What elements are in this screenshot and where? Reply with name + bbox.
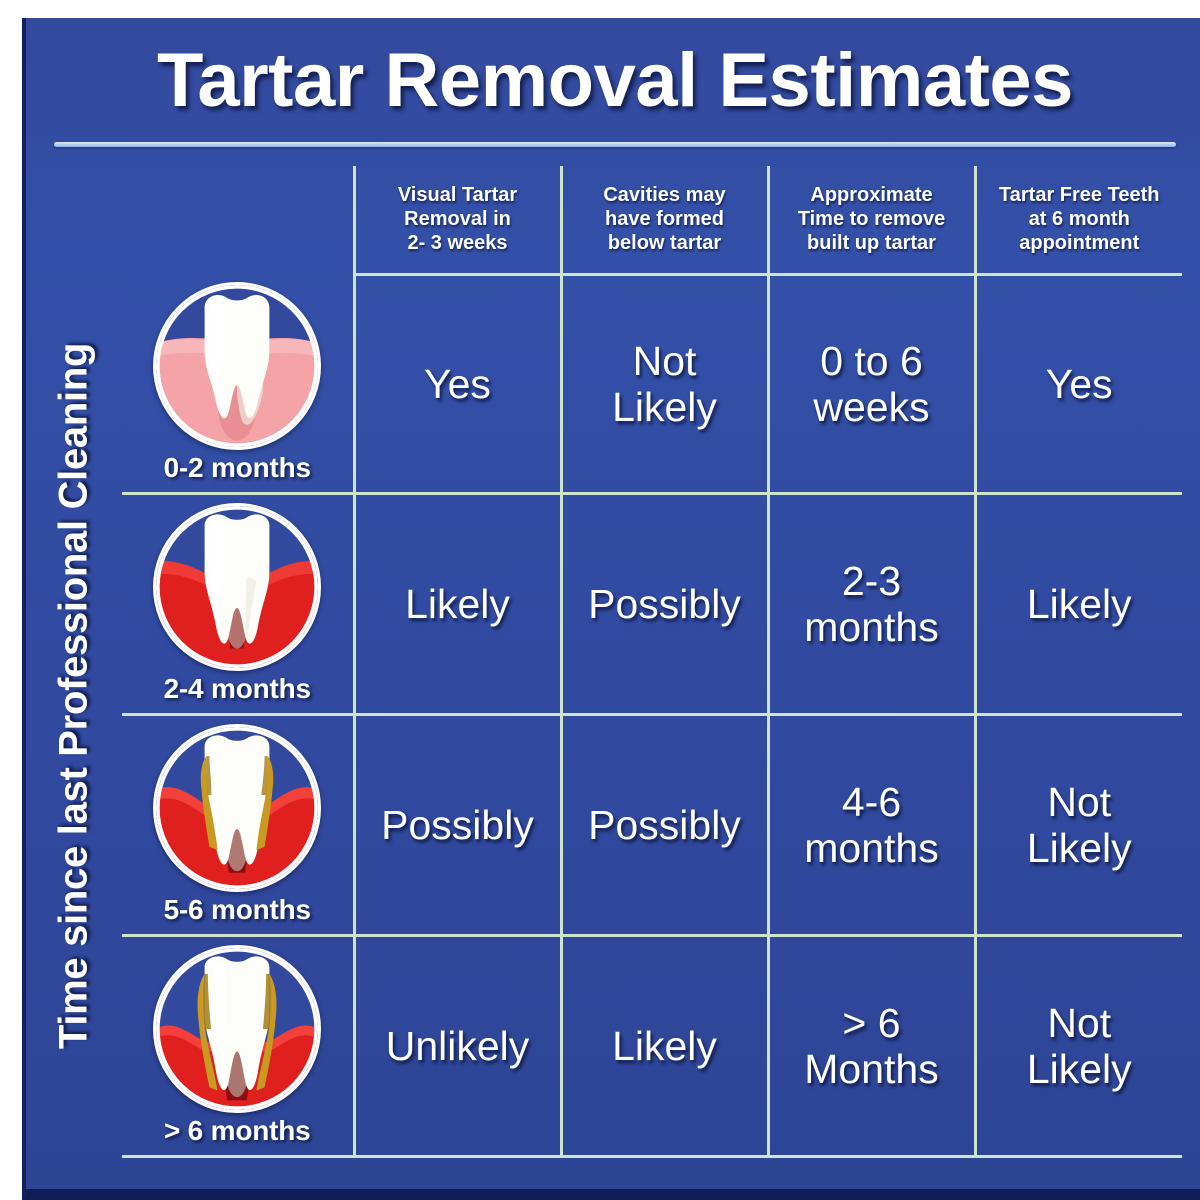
cell-line: Likely (977, 825, 1183, 871)
cell-line: months (770, 825, 974, 871)
cell-over-6-months-visual-removal: Unlikely (354, 935, 561, 1156)
column-header-cavities: Cavities may have formed below tartar (561, 166, 768, 274)
cell-line: > 6 (770, 1000, 974, 1046)
column-header-line: Cavities may (563, 183, 767, 207)
row-icon-cell-2-4-months: 2-4 months (122, 493, 354, 714)
cell-line: Not (977, 779, 1183, 825)
column-header-tartar-free: Tartar Free Teeth at 6 month appointment (975, 166, 1182, 274)
table-corner-cell (122, 166, 354, 274)
tooth-inflamed-gums-icon (153, 503, 321, 671)
table-row: > 6 months Unlikely Likely > 6 Months No… (122, 935, 1182, 1156)
table-row: 5-6 months Possibly Possibly 4-6 months … (122, 714, 1182, 935)
vertical-axis-label-text: Time since last Professional Cleaning (52, 343, 97, 1049)
cell-line: Likely (356, 581, 560, 627)
cell-line: Months (770, 1046, 974, 1092)
cell-2-4-months-cavities: Possibly (561, 493, 768, 714)
title-divider (54, 142, 1176, 147)
page-title: Tartar Removal Estimates (157, 40, 1073, 122)
vertical-axis-label: Time since last Professional Cleaning (44, 246, 104, 1146)
row-label-over-6-months: > 6 months (122, 1115, 353, 1147)
cell-line: Possibly (563, 802, 767, 848)
cell-line: months (770, 604, 974, 650)
cell-line: Likely (977, 1046, 1183, 1092)
cell-2-4-months-tartar-free: Likely (975, 493, 1182, 714)
column-header-line: appointment (977, 231, 1183, 255)
cell-line: Yes (977, 361, 1183, 407)
cell-2-4-months-time-to-remove: 2-3 months (768, 493, 975, 714)
cell-line: Unlikely (356, 1023, 560, 1069)
cell-over-6-months-tartar-free: Not Likely (975, 935, 1182, 1156)
column-header-line: have formed (563, 207, 767, 231)
row-label-2-4-months: 2-4 months (122, 673, 353, 705)
row-icon-cell-0-2-months: 0-2 months (122, 274, 354, 493)
cell-over-6-months-cavities: Likely (561, 935, 768, 1156)
cell-0-2-months-time-to-remove: 0 to 6 weeks (768, 274, 975, 493)
cell-line: Likely (563, 384, 767, 430)
tooth-healthy-icon (153, 282, 321, 450)
estimates-table: Visual Tartar Removal in 2- 3 weeks Cavi… (122, 166, 1182, 1158)
cell-5-6-months-cavities: Possibly (561, 714, 768, 935)
column-header-line: built up tartar (770, 231, 974, 255)
column-header-line: 2- 3 weeks (356, 231, 560, 255)
table-row: 2-4 months Likely Possibly 2-3 months Li… (122, 493, 1182, 714)
column-header-line: Tartar Free Teeth (977, 183, 1183, 207)
estimates-table-container: Visual Tartar Removal in 2- 3 weeks Cavi… (122, 166, 1182, 1158)
poster-bottom-border (26, 1189, 1200, 1195)
poster-title-container: Tartar Removal Estimates (26, 40, 1200, 122)
tooth-tartar-buildup-icon (153, 724, 321, 892)
cell-line: Yes (356, 361, 560, 407)
cell-line: Likely (977, 581, 1183, 627)
cell-line: Possibly (563, 581, 767, 627)
column-header-line: Time to remove (770, 207, 974, 231)
column-header-line: Approximate (770, 183, 974, 207)
table-body: 0-2 months Yes Not Likely 0 to 6 weeks Y (122, 274, 1182, 1157)
column-header-line: Removal in (356, 207, 560, 231)
cell-line: Not (977, 1000, 1183, 1046)
cell-5-6-months-time-to-remove: 4-6 months (768, 714, 975, 935)
cell-0-2-months-visual-removal: Yes (354, 274, 561, 493)
cell-line: Likely (563, 1023, 767, 1069)
column-header-visual-removal: Visual Tartar Removal in 2- 3 weeks (354, 166, 561, 274)
table-header-row: Visual Tartar Removal in 2- 3 weeks Cavi… (122, 166, 1182, 274)
column-header-time-to-remove: Approximate Time to remove built up tart… (768, 166, 975, 274)
cell-line: Not (563, 338, 767, 384)
infographic-poster: Tartar Removal Estimates Time since last… (22, 18, 1200, 1200)
cell-over-6-months-time-to-remove: > 6 Months (768, 935, 975, 1156)
cell-5-6-months-visual-removal: Possibly (354, 714, 561, 935)
cell-line: 4-6 (770, 779, 974, 825)
table-row: 0-2 months Yes Not Likely 0 to 6 weeks Y (122, 274, 1182, 493)
row-icon-cell-5-6-months: 5-6 months (122, 714, 354, 935)
row-icon-cell-over-6-months: > 6 months (122, 935, 354, 1156)
row-label-0-2-months: 0-2 months (122, 452, 353, 484)
row-label-5-6-months: 5-6 months (122, 894, 353, 926)
tooth-severe-tartar-icon (153, 945, 321, 1113)
cell-line: 0 to 6 (770, 338, 974, 384)
cell-0-2-months-tartar-free: Yes (975, 274, 1182, 493)
cell-line: 2-3 (770, 558, 974, 604)
cell-2-4-months-visual-removal: Likely (354, 493, 561, 714)
column-header-line: at 6 month (977, 207, 1183, 231)
cell-0-2-months-cavities: Not Likely (561, 274, 768, 493)
cell-5-6-months-tartar-free: Not Likely (975, 714, 1182, 935)
column-header-line: below tartar (563, 231, 767, 255)
column-header-line: Visual Tartar (356, 183, 560, 207)
table-header: Visual Tartar Removal in 2- 3 weeks Cavi… (122, 166, 1182, 274)
cell-line: weeks (770, 384, 974, 430)
cell-line: Possibly (356, 802, 560, 848)
